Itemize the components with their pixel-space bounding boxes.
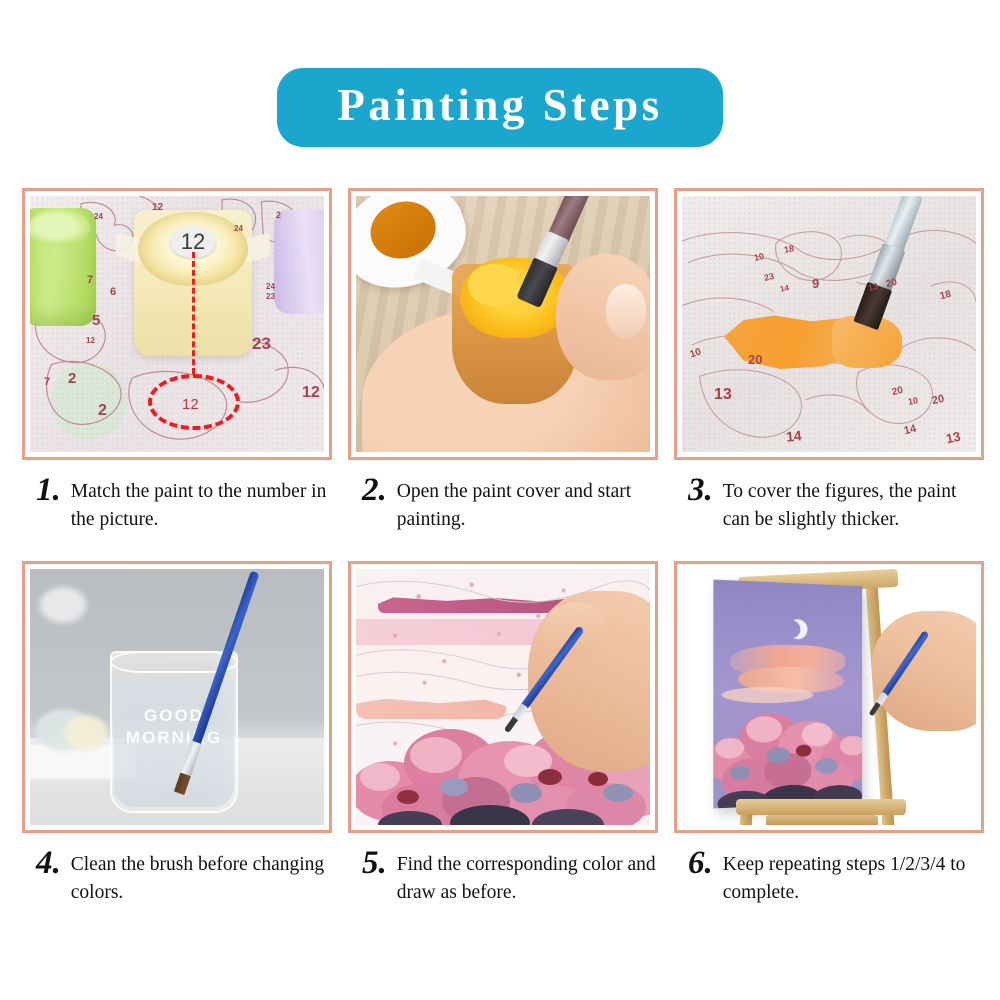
step-4-caption: 4. Clean the brush before changing color… (22, 845, 332, 906)
canvas-number: 24 (266, 282, 275, 291)
canvas-number: 23 (252, 334, 271, 354)
step-1-number: 1. (36, 472, 61, 507)
canvas-number: 2 (68, 370, 76, 387)
canvas-number: 12 (152, 202, 163, 213)
crescent-moon (785, 617, 809, 642)
step-card-5: 5. Find the corresponding color and draw… (348, 561, 658, 906)
easel-ledge (736, 799, 906, 815)
step-2-caption: 2. Open the paint cover and start painti… (348, 472, 658, 533)
canvas-number: 23 (266, 292, 275, 301)
step-5-photo (356, 569, 650, 825)
step-card-1: 12 12 12 24 2 24 7 6 5 12 2 7 2 23 (22, 188, 332, 533)
step-4-photo: GOOD MORNING (30, 569, 324, 825)
step-5-caption: 5. Find the corresponding color and draw… (348, 845, 658, 906)
step-6-text: Keep repeating steps 1/2/3/4 to complete… (723, 845, 984, 906)
canvas-number: 5 (92, 312, 100, 329)
steps-grid: 12 12 12 24 2 24 7 6 5 12 2 7 2 23 (22, 188, 984, 907)
step-5-photo-frame (348, 561, 658, 833)
step-1-text: Match the paint to the number in the pic… (71, 472, 332, 533)
canvas-number: 10 (907, 395, 919, 407)
canvas-number: 14 (785, 427, 802, 445)
target-area-number: 12 (182, 396, 199, 413)
step-2-photo-frame (348, 188, 658, 460)
canvas-number: 23 (763, 271, 775, 283)
step-3-number: 3. (688, 472, 713, 507)
canvas-number: 24 (94, 212, 103, 221)
canvas-number: 10 (753, 251, 765, 263)
step-3-text: To cover the figures, the paint can be s… (723, 472, 984, 533)
paint-pot-purple (274, 210, 324, 314)
canvas-number: 24 (234, 224, 243, 233)
canvas-number: 13 (714, 386, 732, 404)
glass-text-line-1: GOOD (112, 705, 236, 726)
canvas-number: 9 (812, 276, 819, 291)
canvas-number: 12 (302, 384, 320, 402)
step-6-number: 6. (688, 845, 713, 880)
hand-holding-brush (872, 611, 976, 731)
canvas-number: 13 (867, 281, 879, 293)
step-card-2: 2. Open the paint cover and start painti… (348, 188, 658, 533)
canvas-number: 2 (276, 210, 281, 220)
step-2-photo (356, 196, 650, 452)
canvas-number: 13 (945, 429, 962, 447)
page-title: Painting Steps (323, 82, 677, 129)
step-3-photo: 10 18 23 14 9 20 13 18 10 20 13 14 20 10… (682, 196, 976, 452)
step-6-photo-frame (674, 561, 984, 833)
background-object (40, 587, 86, 623)
canvas-number: 2 (98, 402, 107, 420)
canvas-number: 12 (86, 336, 95, 345)
title-banner: Painting Steps (277, 68, 723, 147)
step-4-photo-frame: GOOD MORNING (22, 561, 332, 833)
canvas-number: 18 (783, 243, 795, 255)
glass-text-line-2: MORNING (112, 727, 236, 748)
step-6-caption: 6. Keep repeating steps 1/2/3/4 to compl… (674, 845, 984, 906)
step-card-6: 6. Keep repeating steps 1/2/3/4 to compl… (674, 561, 984, 906)
step-5-number: 5. (362, 845, 387, 880)
canvas-number: 20 (748, 352, 762, 367)
canvas-number: 7 (87, 274, 93, 286)
fingernail (606, 284, 646, 338)
easel-ledge-support (766, 815, 878, 825)
step-1-photo-frame: 12 12 12 24 2 24 7 6 5 12 2 7 2 23 (22, 188, 332, 460)
step-1-caption: 1. Match the paint to the number in the … (22, 472, 332, 533)
step-4-number: 4. (36, 845, 61, 880)
canvas-number: 14 (779, 283, 789, 293)
paint-pot-green (30, 208, 96, 326)
finished-canvas-painting (713, 580, 862, 809)
canvas-number: 7 (44, 376, 50, 388)
step-3-photo-frame: 10 18 23 14 9 20 13 18 10 20 13 14 20 10… (674, 188, 984, 460)
step-2-number: 2. (362, 472, 387, 507)
step-card-3: 10 18 23 14 9 20 13 18 10 20 13 14 20 10… (674, 188, 984, 533)
red-dashed-guide-line (192, 252, 195, 374)
step-2-text: Open the paint cover and start painting. (397, 472, 658, 533)
step-card-4: GOOD MORNING 4. Clean the brush before c… (22, 561, 332, 906)
step-3-caption: 3. To cover the figures, the paint can b… (674, 472, 984, 533)
title-banner-wrapper: Painting Steps (0, 68, 1000, 147)
cherry-blossom-painting (713, 681, 862, 809)
step-5-text: Find the corresponding color and draw as… (397, 845, 658, 906)
step-1-photo: 12 12 12 24 2 24 7 6 5 12 2 7 2 23 (30, 196, 324, 452)
glass-printed-text: GOOD MORNING (112, 705, 236, 748)
canvas-number: 6 (110, 286, 116, 298)
step-4-text: Clean the brush before changing colors. (71, 845, 332, 906)
canvas-number: 20 (931, 393, 945, 407)
step-6-photo (682, 569, 976, 825)
painting-steps-infographic: Painting Steps (0, 0, 1000, 1000)
brush-bristles (869, 702, 881, 716)
